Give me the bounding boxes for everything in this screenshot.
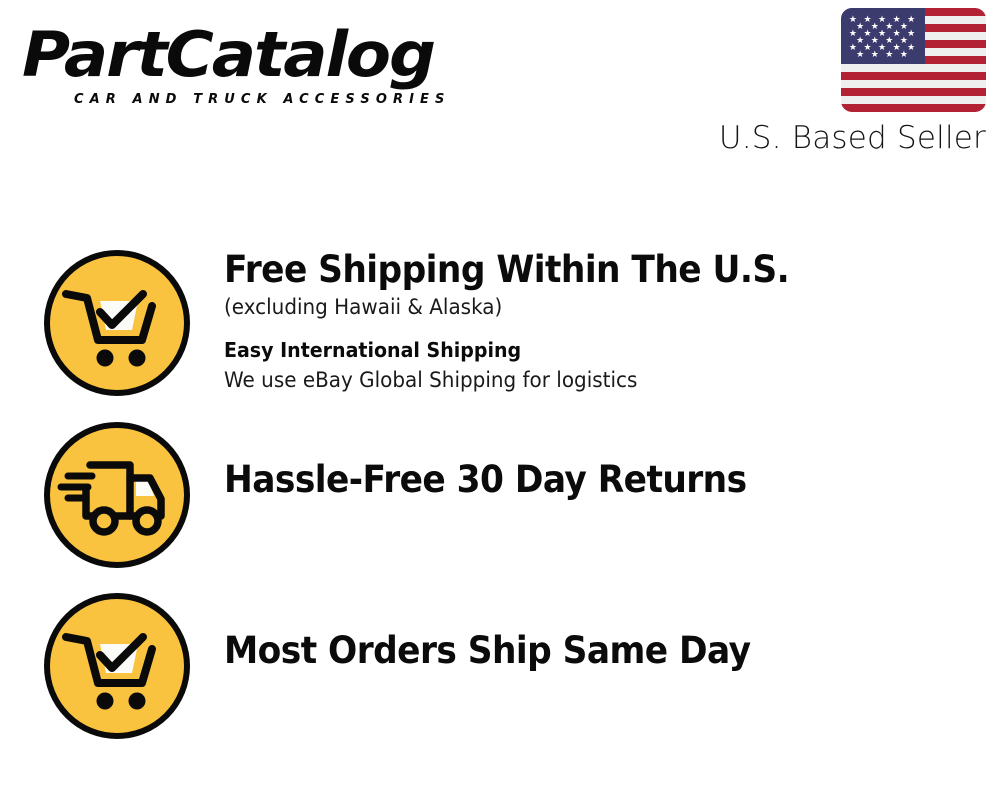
feature-secondary-title: Easy International Shipping: [224, 335, 944, 365]
feature-title: Most Orders Ship Same Day: [224, 629, 929, 673]
feature-title: Free Shipping Within The U.S.: [224, 248, 929, 292]
shopping-cart-check-icon: [42, 248, 192, 398]
feature-title: Hassle-Free 30 Day Returns: [224, 458, 929, 502]
feature-text-block: Hassle-Free 30 Day Returns: [192, 420, 982, 502]
brand-wordmark: PartCatalog: [22, 22, 520, 88]
us-based-seller-badge: ★ ★ ★ ★ ★ ★ ★ ★ ★ ★ ★ ★ ★ ★ ★ ★ ★ ★ ★ ★ …: [711, 8, 986, 155]
seller-label: U.S. Based Seller: [711, 121, 986, 155]
brand-logo[interactable]: PartCatalog CAR AND TRUCK ACCESSORIES: [22, 22, 492, 117]
feature-row: Hassle-Free 30 Day Returns: [42, 420, 982, 570]
feature-row: Most Orders Ship Same Day: [42, 591, 982, 741]
feature-subtitle: (excluding Hawaii & Alaska): [224, 292, 944, 322]
page-header: PartCatalog CAR AND TRUCK ACCESSORIES ★ …: [0, 0, 1000, 170]
flag-canton: ★ ★ ★ ★ ★ ★ ★ ★ ★ ★ ★ ★ ★ ★ ★ ★ ★ ★ ★ ★ …: [841, 8, 925, 64]
delivery-truck-icon: [42, 420, 192, 570]
feature-text-block: Most Orders Ship Same Day: [192, 591, 982, 673]
feature-secondary-subtitle: We use eBay Global Shipping for logistic…: [224, 365, 944, 395]
brand-tagline: CAR AND TRUCK ACCESSORIES: [74, 92, 451, 107]
feature-text-block: Free Shipping Within The U.S. (excluding…: [192, 248, 982, 395]
us-flag-icon: ★ ★ ★ ★ ★ ★ ★ ★ ★ ★ ★ ★ ★ ★ ★ ★ ★ ★ ★ ★ …: [841, 8, 986, 112]
feature-row: Free Shipping Within The U.S. (excluding…: [42, 248, 982, 398]
shopping-cart-check-icon: [42, 591, 192, 741]
